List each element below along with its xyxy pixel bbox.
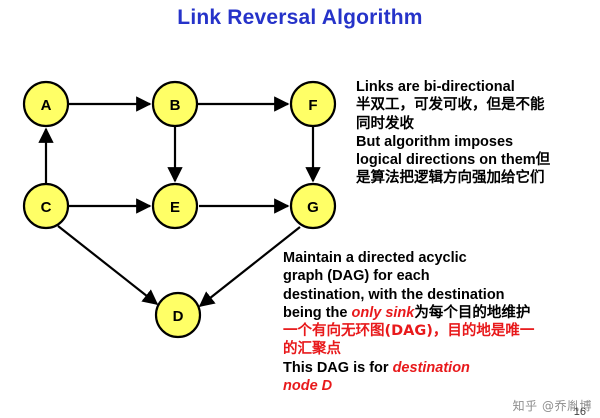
node-e[interactable]: E <box>153 184 197 228</box>
text-block-top: Links are bi-directional 半双工，可发可收，但是不能 同… <box>356 78 600 188</box>
destination-emphasis: destination <box>393 360 470 376</box>
bottom-line-7-en: This DAG is for <box>283 360 393 376</box>
bottom-line-3: destination, with the destination <box>283 286 600 304</box>
node-e-label: E <box>170 199 180 216</box>
node-g[interactable]: G <box>291 184 335 228</box>
bottom-line-4: being the only sink为每个目的地维护 <box>283 304 600 322</box>
node-d[interactable]: D <box>156 293 200 337</box>
top-line-5-en: logical directions on them <box>356 152 536 168</box>
top-line-5-cn: 但 <box>536 152 551 168</box>
top-line-3: 同时发收 <box>356 115 600 133</box>
edge-c-d <box>58 226 157 304</box>
slide-canvas: Link Reversal Algorithm A B <box>0 0 600 418</box>
node-a-label: A <box>41 97 52 114</box>
node-d-label: D <box>173 308 184 325</box>
bottom-line-4-cn: 为每个目的地维护 <box>414 305 530 321</box>
bottom-line-4-en: being the <box>283 305 351 321</box>
page-title: Link Reversal Algorithm <box>0 6 600 30</box>
node-c-label: C <box>41 199 52 216</box>
node-g-label: G <box>307 199 319 216</box>
bottom-line-1: Maintain a directed acyclic <box>283 249 600 267</box>
node-b[interactable]: B <box>153 82 197 126</box>
node-c[interactable]: C <box>24 184 68 228</box>
node-b-label: B <box>170 97 181 114</box>
bottom-line-7: This DAG is for destination <box>283 359 600 377</box>
node-f-label: F <box>308 97 317 114</box>
text-block-bottom: Maintain a directed acyclic graph (DAG) … <box>283 249 600 395</box>
node-a[interactable]: A <box>24 82 68 126</box>
only-sink-emphasis: only sink <box>351 305 414 321</box>
bottom-line-6: 的汇聚点 <box>283 340 600 358</box>
page-number: 16 <box>574 406 586 418</box>
top-line-1: Links are bi-directional <box>356 78 600 96</box>
node-f[interactable]: F <box>291 82 335 126</box>
top-line-6: 是算法把逻辑方向强加给它们 <box>356 169 600 187</box>
bottom-line-8: node D <box>283 377 600 395</box>
top-line-2: 半双工，可发可收，但是不能 <box>356 96 600 114</box>
top-line-5: logical directions on them但 <box>356 151 600 169</box>
bottom-line-2: graph (DAG) for each <box>283 267 600 285</box>
top-line-4: But algorithm imposes <box>356 133 600 151</box>
bottom-line-5: 一个有向无环图(DAG)，目的地是唯一 <box>283 322 600 340</box>
